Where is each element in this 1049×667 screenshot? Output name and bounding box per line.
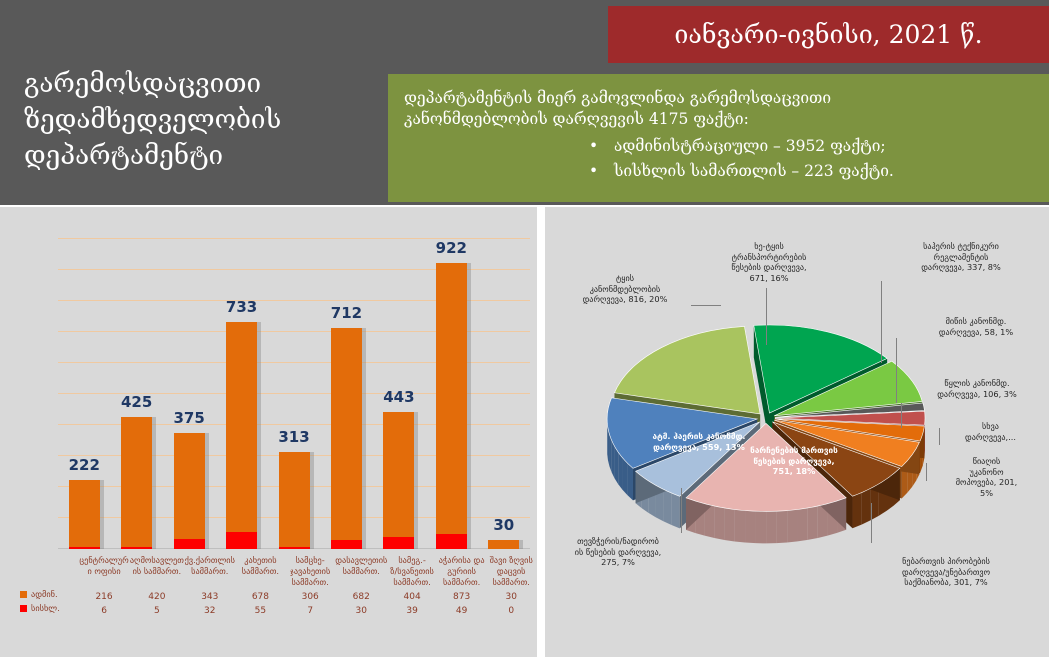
- pie-leader-line: [766, 288, 767, 345]
- bar-segment-criminal[interactable]: [121, 547, 152, 549]
- pie-slice-label: წიაღისუკანონომოპოვება, 201,5%: [934, 456, 1039, 498]
- table-value-cell: 7: [285, 603, 335, 617]
- pie-slice-side: [627, 463, 633, 500]
- table-value-cell: 404: [387, 589, 437, 603]
- pie-plot-area: ხე-ტყისტრანსპორტირებისწესების დარღვევა,6…: [551, 213, 1049, 663]
- bar-segment-administrative[interactable]: [279, 452, 310, 547]
- pie-slice-side: [615, 446, 619, 484]
- table-category-header: დასავლეთისსამმართ.: [335, 553, 387, 589]
- bar-column[interactable]: [69, 480, 100, 549]
- pie-slice-side: [787, 509, 797, 542]
- table-value-cell: 30: [486, 589, 536, 603]
- table-value-cell: 55: [236, 603, 286, 617]
- bar-chart-inner: 22242537573331371244392230 ცენტრალური ოფ…: [6, 213, 531, 653]
- table-category-header: ქვ.ქართლისსამმართ.: [184, 553, 236, 589]
- table-row: ადმინ.21642034367830668240487330: [16, 589, 536, 603]
- bar-segment-administrative[interactable]: [226, 322, 257, 532]
- table-value-cell: 0: [486, 603, 536, 617]
- table-row: სისხლ.65325573039490: [16, 603, 536, 617]
- bar-segment-criminal[interactable]: [436, 534, 467, 549]
- bar-column[interactable]: [488, 540, 519, 549]
- table-row-categories: ცენტრალური ოფისიაღმოსავლეთის სამმართ.ქვ.…: [16, 553, 536, 589]
- bar-shadow: [100, 480, 104, 549]
- bar-column[interactable]: [436, 263, 467, 549]
- table-value-cell: 420: [130, 589, 184, 603]
- bar-segment-administrative[interactable]: [174, 433, 205, 539]
- bar-value-label: 733: [214, 298, 269, 316]
- pie-slice-label: საჰერის ტექნიკურირეგლამენტისდარღვევა, 33…: [881, 241, 1041, 273]
- table-category-header: აჭარისა დაგურიისსამმართ.: [437, 553, 487, 589]
- legend-swatch: [20, 591, 27, 598]
- pie-slice-side: [724, 508, 734, 542]
- table-value-cell: 5: [130, 603, 184, 617]
- bar-segment-administrative[interactable]: [331, 328, 362, 539]
- bar-column[interactable]: [383, 412, 414, 549]
- table-category-header: სამცხე-ჯავახეთისსამმართ.: [285, 553, 335, 589]
- pie-slice-side: [798, 508, 808, 542]
- pie-slice-label: თევზჭერის/ნადირობის წესების დარღვევა,275…: [553, 536, 683, 568]
- bar-value-label: 712: [319, 304, 374, 322]
- bar-value-label: 30: [476, 516, 531, 534]
- bar-value-label: 922: [424, 239, 479, 257]
- table-category-header: კახეთისსამმართ.: [236, 553, 286, 589]
- pie-slice-label: ხე-ტყისტრანსპორტირებისწესების დარღვევა,6…: [699, 241, 839, 283]
- summary-bullet-text: სისხლის სამართლის – 223 ფაქტი.: [614, 162, 894, 180]
- pie-leader-line: [926, 463, 927, 481]
- table-legend-cell: სისხლ.: [16, 603, 78, 617]
- bar-chart-data-table: ცენტრალური ოფისიაღმოსავლეთის სამმართ.ქვ.…: [16, 553, 536, 617]
- bar-value-label: 443: [371, 388, 426, 406]
- bar-column[interactable]: [174, 433, 205, 549]
- bar-value-label: 375: [162, 409, 217, 427]
- summary-line-2: კანონმდებლობის დარღვევის 4175 ფაქტი:: [404, 109, 1033, 130]
- bar-shadow: [414, 412, 418, 549]
- bar-segment-criminal[interactable]: [226, 532, 257, 549]
- pie-slice-side: [777, 511, 787, 544]
- legend-label: სისხლ.: [31, 603, 60, 613]
- legend-swatch: [20, 605, 27, 612]
- date-range-banner: იანვარი-ივნისი, 2021 წ.: [608, 6, 1049, 63]
- pie-slice-side: [622, 458, 627, 495]
- table-value-cell: 39: [387, 603, 437, 617]
- pie-slice-label: სხვადარღვევა,...: [943, 421, 1038, 442]
- pie-slice-side: [808, 506, 818, 540]
- bar-segment-criminal[interactable]: [174, 539, 205, 549]
- pie-slice-label: მიწის კანონმდ.დარღვევა, 58, 1%: [901, 316, 1049, 337]
- table-value-cell: 32: [184, 603, 236, 617]
- table-value-cell: 30: [335, 603, 387, 617]
- bullet-glyph: •: [589, 134, 598, 159]
- bar-segment-criminal[interactable]: [69, 547, 100, 549]
- table-value-cell: 678: [236, 589, 286, 603]
- bar-value-label: 222: [57, 456, 112, 474]
- pie-slice-side: [735, 509, 745, 542]
- pie-slice-side: [714, 506, 724, 540]
- pie-slice-label: ატმ. ჰაერის კანონმდ.დარღვევა, 559, 13%: [629, 431, 769, 452]
- bar-segment-criminal[interactable]: [383, 537, 414, 549]
- bar-chart-panel[interactable]: 22242537573331371244392230 ცენტრალური ოფ…: [0, 207, 537, 657]
- pie-leader-line: [939, 428, 940, 445]
- bar-column[interactable]: [279, 452, 310, 549]
- data-table: ცენტრალური ოფისიაღმოსავლეთის სამმართ.ქვ.…: [16, 553, 536, 617]
- bar-segment-administrative[interactable]: [488, 540, 519, 549]
- summary-bullet-list: • ადმინისტრაციული – 3952 ფაქტი; • სისხლი…: [404, 134, 1033, 184]
- pie-chart-inner: ხე-ტყისტრანსპორტირებისწესების დარღვევა,6…: [551, 213, 1043, 653]
- summary-bullet-text: ადმინისტრაციული – 3952 ფაქტი;: [614, 137, 886, 155]
- pie-slice-side: [663, 489, 671, 525]
- pie-slice-side: [745, 511, 755, 544]
- table-category-header: სამეგ.-ზ/სვანეთისსამმართ.: [387, 553, 437, 589]
- bar-shadow: [519, 540, 523, 549]
- bar-shadow: [205, 433, 209, 549]
- pie-slice-side: [862, 488, 871, 524]
- table-value-cell: 6: [78, 603, 130, 617]
- bar-segment-administrative[interactable]: [121, 417, 152, 547]
- department-title: გარემოსდაცვითი ზედამხედველობის დეპარტამე…: [24, 66, 374, 174]
- bar-shadow: [362, 328, 366, 549]
- pie-slice-side: [671, 493, 680, 528]
- pie-slice-side: [853, 492, 862, 528]
- pie-leader-line: [871, 503, 872, 543]
- table-value-cell: 216: [78, 589, 130, 603]
- table-value-cell: 306: [285, 589, 335, 603]
- pie-slice-side: [766, 511, 777, 543]
- pie-leader-line: [896, 338, 897, 403]
- bar-shadow: [310, 452, 314, 549]
- bullet-glyph: •: [589, 159, 598, 184]
- summary-bullet-item: • ადმინისტრაციული – 3952 ფაქტი;: [404, 134, 1033, 159]
- slide-root: გარემოსდაცვითი ზედამხედველობის დეპარტამე…: [0, 0, 1049, 657]
- pie-leader-line: [881, 281, 882, 363]
- table-value-cell: 682: [335, 589, 387, 603]
- bar-shadow: [152, 417, 156, 549]
- table-value-cell: 49: [437, 603, 487, 617]
- bar-shadow: [257, 322, 261, 549]
- bar-segment-criminal[interactable]: [279, 547, 310, 549]
- bar-plot-area: 22242537573331371244392230: [58, 239, 530, 549]
- bar-shadow: [467, 263, 471, 549]
- pie-chart-panel[interactable]: ხე-ტყისტრანსპორტირებისწესების დარღვევა,6…: [545, 207, 1049, 657]
- pie-slice-label: წყლის კანონმდ.დარღვევა, 106, 3%: [903, 378, 1049, 399]
- bar-segment-administrative[interactable]: [436, 263, 467, 534]
- summary-bullet-item: • სისხლის სამართლის – 223 ფაქტი.: [404, 159, 1033, 184]
- summary-callout: დეპარტამენტის მიერ გამოვლინდა გარემოსდაც…: [388, 74, 1049, 202]
- table-category-header: შავი ზღვისდაცვისსამმართ.: [486, 553, 536, 589]
- bar-column[interactable]: [331, 328, 362, 549]
- bar-value-label: 313: [267, 428, 322, 446]
- bar-value-label: 425: [109, 393, 164, 411]
- table-category-header: აღმოსავლეთის სამმართ.: [130, 553, 184, 589]
- bar-column[interactable]: [226, 322, 257, 549]
- legend-label: ადმინ.: [31, 589, 58, 599]
- bar-column[interactable]: [121, 417, 152, 549]
- pie-leader-line: [901, 403, 902, 428]
- bar-segment-criminal[interactable]: [331, 540, 362, 549]
- bar-segment-administrative[interactable]: [69, 480, 100, 547]
- summary-line-1: დეპარტამენტის მიერ გამოვლინდა გარემოსდაც…: [404, 88, 1033, 109]
- table-category-header: ცენტრალური ოფისი: [78, 553, 130, 589]
- pie-leader-line: [681, 488, 682, 533]
- bar-segment-administrative[interactable]: [383, 412, 414, 537]
- pie-slice-side: [618, 452, 622, 490]
- table-value-cell: 343: [184, 589, 236, 603]
- pie-slice-label: ნებართვის პირობებისდარღვევა/უნებართვოსაქ…: [851, 556, 1041, 588]
- table-corner-cell: [16, 553, 78, 589]
- date-range-label: იანვარი-ივნისი, 2021 წ.: [674, 20, 982, 49]
- table-value-cell: 873: [437, 589, 487, 603]
- pie-slice-label: ტყისკანონმდებლობისდარღვევა, 816, 20%: [555, 273, 695, 305]
- pie-slice-side: [756, 511, 767, 543]
- pie-leader-line: [691, 305, 721, 306]
- table-legend-cell: ადმინ.: [16, 589, 78, 603]
